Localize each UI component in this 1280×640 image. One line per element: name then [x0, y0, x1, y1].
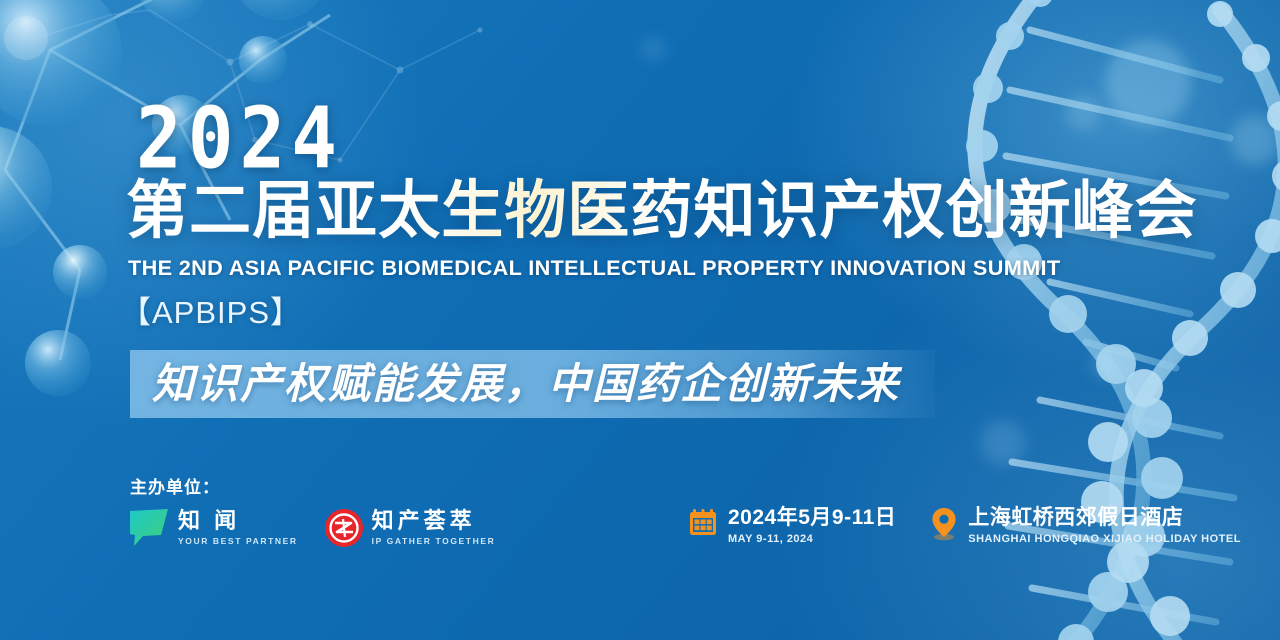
- organizer-tagline-en: YOUR BEST PARTNER: [178, 535, 298, 547]
- event-venue-text: 上海虹桥西郊假日酒店 SHANGHAI HONGQIAO XIJIAO HOLI…: [968, 506, 1241, 546]
- chat-bubble-logo-icon: [128, 508, 170, 548]
- slogan-text: 知识产权赋能发展，中国药企创新未来: [152, 358, 900, 410]
- organizer-label: 主办单位：: [130, 478, 220, 498]
- event-date: 2024年5月9-11日 MAY 9-11, 2024: [688, 506, 896, 546]
- event-year: 2024: [136, 96, 343, 181]
- organizer-zhichanhuicui-text: 知产荟萃 IP GATHER TOGETHER: [372, 509, 496, 547]
- conference-banner: 2024 第二届亚太生物医药知识产权创新峰会 THE 2ND ASIA PACI…: [0, 0, 1280, 640]
- organizer-name-cn: 知产荟萃: [372, 509, 496, 533]
- title-english: THE 2ND ASIA PACIFIC BIOMEDICAL INTELLEC…: [128, 256, 1060, 280]
- organizer-zhiwen: 知 闻 YOUR BEST PARTNER: [128, 508, 298, 548]
- title-abbreviation: 【APBIPS】: [120, 296, 302, 330]
- event-date-cn: 2024年5月9-11日: [728, 506, 896, 530]
- organizer-tagline-en: IP GATHER TOGETHER: [372, 535, 496, 547]
- banner-content: 2024 第二届亚太生物医药知识产权创新峰会 THE 2ND ASIA PACI…: [0, 0, 1280, 640]
- event-venue: 上海虹桥西郊假日酒店 SHANGHAI HONGQIAO XIJIAO HOLI…: [930, 506, 1241, 546]
- event-info-row: 2024年5月9-11日 MAY 9-11, 2024 上海虹桥西郊假日酒店 S…: [688, 506, 1241, 546]
- event-date-en: MAY 9-11, 2024: [728, 532, 896, 546]
- organizer-logos: 知 闻 YOUR BEST PARTNER 知产荟萃 IP GATHER TOG…: [128, 508, 495, 548]
- calendar-icon: [688, 507, 718, 537]
- organizer-name-cn: 知 闻: [178, 509, 298, 533]
- event-venue-cn: 上海虹桥西郊假日酒店: [968, 506, 1241, 530]
- organizer-zhichanhuicui: 知产荟萃 IP GATHER TOGETHER: [324, 508, 496, 548]
- map-pin-icon: [930, 507, 958, 541]
- organizer-zhiwen-text: 知 闻 YOUR BEST PARTNER: [178, 509, 298, 547]
- event-date-text: 2024年5月9-11日 MAY 9-11, 2024: [728, 506, 896, 546]
- event-venue-en: SHANGHAI HONGQIAO XIJIAO HOLIDAY HOTEL: [968, 532, 1241, 546]
- circle-z-emblem-icon: [324, 508, 364, 548]
- title-chinese: 第二届亚太生物医药知识产权创新峰会: [126, 176, 1198, 246]
